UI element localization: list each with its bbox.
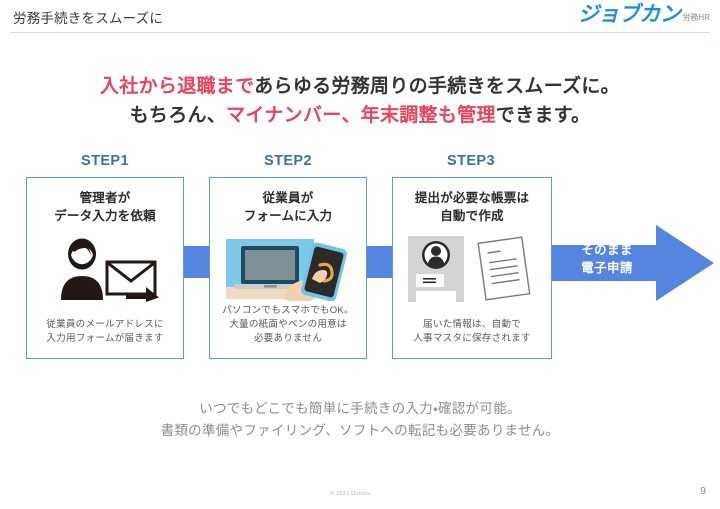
step-card-1-caption-line2: 入力用フォームが届きます: [29, 332, 181, 346]
logo-subtitle: 労務HR: [682, 12, 710, 23]
step-card-1-title-line1: 管理者が: [27, 190, 183, 208]
headline-accent-2: マイナンバー、年末調整も管理: [226, 105, 496, 126]
step-card-2-title-line1: 従業員が: [210, 190, 366, 208]
result-arrow-line2: 電子申請: [564, 259, 650, 277]
step-card-3-caption-line2: 人事マスタに保存されます: [395, 332, 549, 346]
step-card-2-caption-line2: 大量の紙面やペンの用意は: [212, 318, 364, 332]
headline-rest-1: あらゆる労務周りの手続きをスムーズに。: [254, 76, 620, 97]
step-card-3-title: 提出が必要な帳票は 自動で作成: [393, 190, 551, 225]
step-card-3-caption-line1: 届いた情報は、自動で: [395, 318, 549, 332]
page-number: 9: [700, 485, 706, 497]
step-card-1-title-line2: データ入力を依頼: [27, 208, 183, 226]
brand-logo: ジョブカン 労務HR: [578, 4, 710, 25]
step-card-1[interactable]: 管理者が データ入力を依頼 従業員のメールアドレスに 入力用フォームが届きます: [26, 177, 184, 359]
step-card-1-caption-line1: 従業員のメールアドレスに: [29, 318, 181, 332]
headline-accent-1: 入社から退職まで: [100, 76, 254, 97]
step-card-2-title-line2: フォームに入力: [210, 208, 366, 226]
step-card-3-title-line1: 提出が必要な帳票は: [393, 190, 551, 208]
slide-header: 労務手続きをスムーズに ジョブカン 労務HR: [0, 0, 720, 33]
step-card-2-caption: パソコンでもスマホでもOK。 大量の紙面やペンの用意は 必要ありません: [212, 304, 364, 346]
summary-note: いつでもどこでも簡単に手続きの入力・確認が可能。 書類の準備やファイリング、ソフ…: [0, 398, 720, 441]
step-card-2[interactable]: 従業員が フォームに入力 パソコンでもスマホでもOK。 大量の紙面: [209, 177, 367, 359]
summary-note-line1: いつでもどこでも簡単に手続きの入力・確認が可能。: [0, 398, 720, 420]
headline-pre-2: もちろん、: [130, 105, 227, 126]
step-connector-2: [364, 246, 394, 278]
step-card-3[interactable]: 提出が必要な帳票は 自動で作成 届いた情報は、自動: [392, 177, 552, 359]
step-card-2-caption-line1: パソコンでもスマホでもOK。: [212, 304, 364, 318]
step-card-1-caption: 従業員のメールアドレスに 入力用フォームが届きます: [29, 318, 181, 346]
id-card-document-icon: [393, 233, 551, 305]
step-card-2-caption-line3: 必要ありません: [212, 332, 364, 346]
person-envelope-icon: [27, 233, 183, 305]
step-label-3: STEP3: [391, 153, 551, 169]
logo-wordmark: ジョブカン: [578, 4, 681, 25]
step-card-3-caption: 届いた情報は、自動で 人事マスタに保存されます: [395, 318, 549, 346]
step-connector-1: [181, 246, 211, 278]
result-arrow-label: そのまま 電子申請: [564, 241, 650, 277]
step-card-1-title: 管理者が データ入力を依頼: [27, 190, 183, 225]
result-arrow-line1: そのまま: [564, 241, 650, 259]
headline-line-2: もちろん、マイナンバー、年末調整も管理できます。: [0, 101, 720, 130]
headline-line-1: 入社から退職まであらゆる労務周りの手続きをスムーズに。: [0, 72, 720, 101]
result-arrow: そのまま 電子申請: [540, 223, 715, 303]
headline-rest-2: できます。: [496, 105, 591, 126]
step-label-2: STEP2: [208, 153, 368, 169]
header-title: 労務手続きをスムーズに: [13, 7, 163, 27]
step-card-2-title: 従業員が フォームに入力: [210, 190, 366, 225]
step-label-1: STEP1: [25, 153, 185, 169]
summary-note-line2: 書類の準備やファイリング、ソフトへの転記も必要ありません。: [0, 420, 720, 442]
copyright-text: © 2021 Donuts.: [330, 491, 372, 497]
page-title: 入社から退職まであらゆる労務周りの手続きをスムーズに。 もちろん、マイナンバー、…: [0, 72, 720, 131]
step-card-3-title-line2: 自動で作成: [393, 208, 551, 226]
header-divider: [10, 32, 710, 33]
laptop-smartphone-icon: [210, 233, 366, 305]
